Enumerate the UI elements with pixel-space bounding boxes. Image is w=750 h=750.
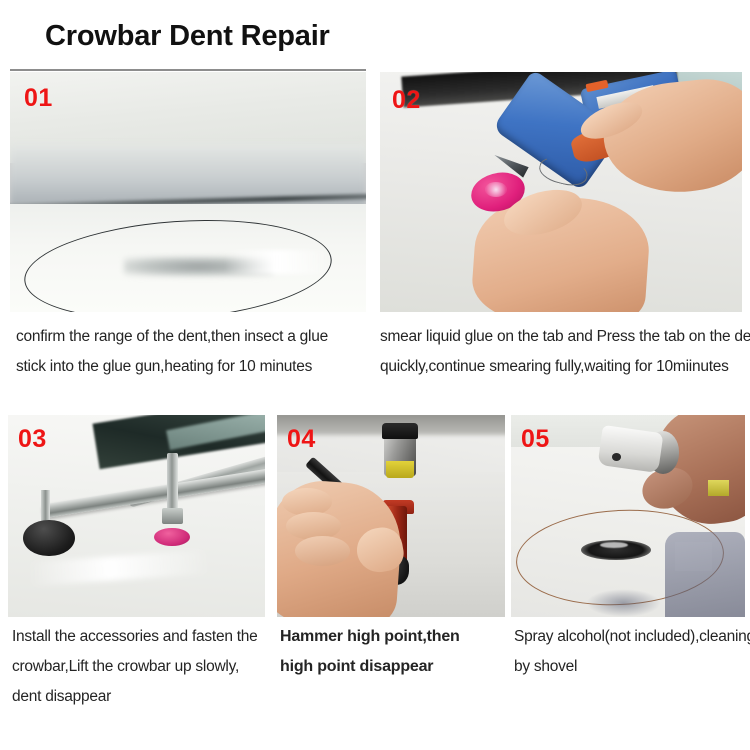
title-divider [10,69,366,71]
caption-line: Hammer high point,then [280,622,504,652]
caption-line: crowbar,Lift the crowbar up slowly, [12,652,264,682]
step-05-photo: 05 [511,415,745,617]
p5-spray-bottle [665,532,745,617]
p4-hammer-yellow-tip [386,461,413,477]
p2-glue-blob [485,182,507,196]
step-badge-02: 02 [392,86,421,115]
caption-line: smear liquid glue on the tab and Press t… [380,322,745,352]
step-04-caption: Hammer high point,then high point disapp… [280,622,504,682]
caption-line: stick into the glue gun,heating for 10 m… [16,352,368,382]
photo-glue-gun-tab [380,72,742,312]
caption-line: Install the accessories and fasten the [12,622,264,652]
step-03-photo: 03 [8,415,265,617]
p5-bottle-label [708,480,729,496]
step-05-caption: Spray alcohol(not included),cleaning by … [514,622,746,682]
step-badge-05: 05 [521,425,550,454]
p3-left-screw [41,490,50,522]
caption-line: quickly,continue smearing fully,waiting … [380,352,745,382]
step-01-caption: confirm the range of the dent,then insec… [16,322,368,382]
step-02-caption: smear liquid glue on the tab and Press t… [380,322,745,382]
p3-threaded-post [167,453,177,512]
step-02-photo: 02 [380,72,742,312]
caption-line: Spray alcohol(not included),cleaning [514,622,746,652]
p3-rubber-foot [23,520,74,556]
page-title: Crowbar Dent Repair [45,20,330,53]
caption-line: by shovel [514,652,746,682]
step-01-photo: 01 [10,72,366,312]
step-badge-01: 01 [24,84,53,113]
step-04-photo: 04 [277,415,505,617]
p5-reflection-shadow [586,589,661,617]
p4-hammer-cap [382,423,418,439]
p3-adjust-nut [162,508,183,524]
step-badge-03: 03 [18,425,47,454]
photo-dent-marked [10,72,366,312]
caption-line: confirm the range of the dent,then insec… [16,322,368,352]
infographic-page: Crowbar Dent Repair 01 confirm the range… [0,0,750,750]
caption-line: dent disappear [12,682,264,712]
step-03-caption: Install the accessories and fasten the c… [12,622,264,712]
step-badge-04: 04 [287,425,316,454]
caption-line: high point disappear [280,652,504,682]
